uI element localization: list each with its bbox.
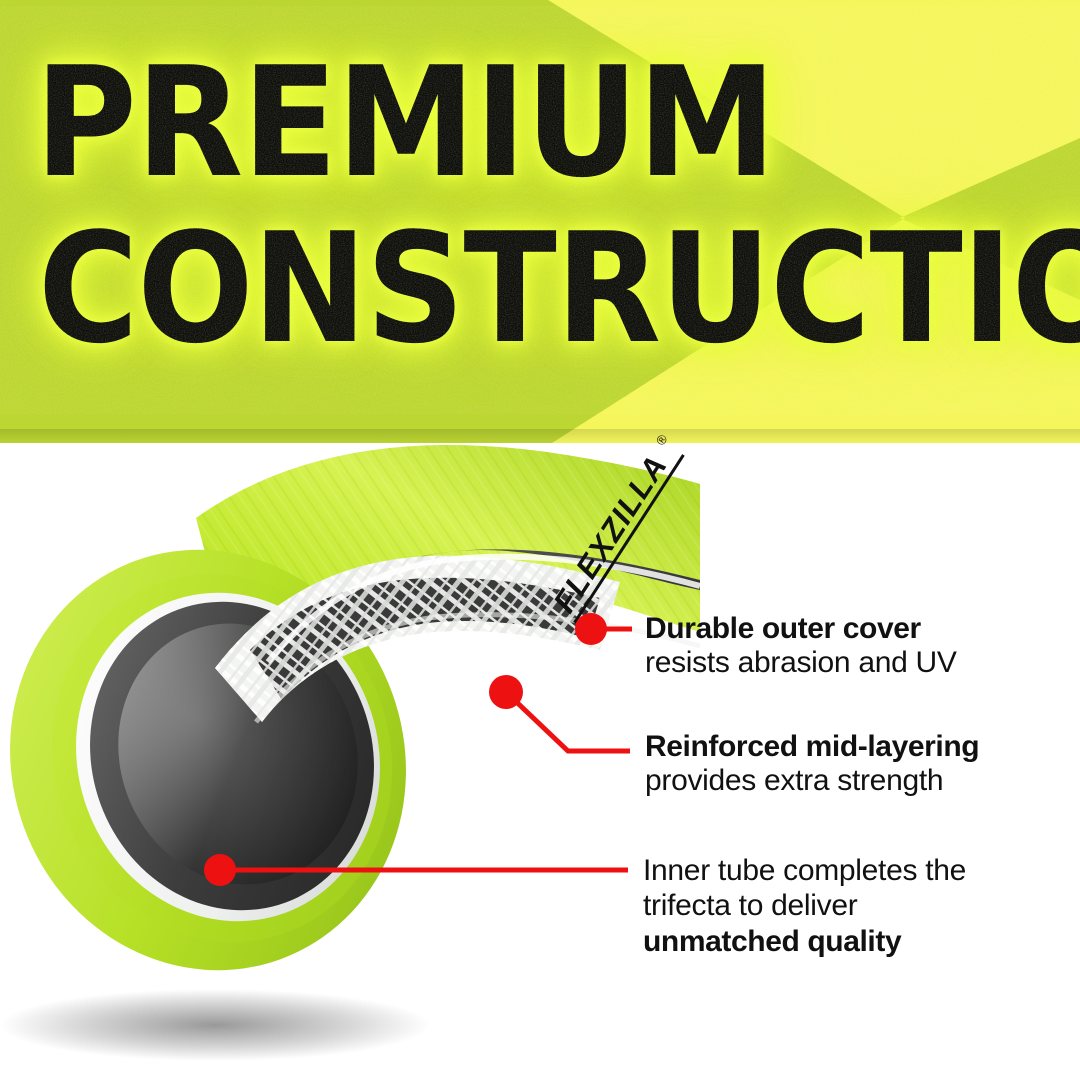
- callout-reinforced-mid-layering: Reinforced mid-layering provides extra s…: [645, 730, 1077, 797]
- infographic-canvas: PREMIUM CONSTRUCTION: [0, 0, 1080, 1080]
- callout-2-title: Reinforced mid-layering: [645, 730, 1077, 764]
- callout-1-body: resists abrasion and UV: [645, 646, 1075, 680]
- callout-durable-outer-cover: Durable outer cover resists abrasion and…: [645, 612, 1075, 679]
- headline-line-2: CONSTRUCTION: [38, 216, 1080, 362]
- callout-3-body-line-1: Inner tube completes the: [643, 853, 1063, 888]
- callout-1-title: Durable outer cover: [645, 612, 1075, 646]
- callout-2-body: provides extra strength: [645, 764, 1077, 798]
- header-banner: PREMIUM CONSTRUCTION: [0, 0, 1080, 443]
- headline-line-1: PREMIUM: [35, 50, 776, 196]
- callout-inner-tube: Inner tube completes the trifecta to del…: [643, 853, 1063, 959]
- callout-3-body-line-2: trifecta to deliver: [643, 888, 1063, 923]
- drop-shadow: [0, 989, 430, 1061]
- registered-trademark-icon: ®: [653, 431, 671, 448]
- callout-3-emphasis: unmatched quality: [643, 924, 1063, 959]
- hose-cutaway-illustration: FLEXZILLA ®: [0, 400, 700, 1080]
